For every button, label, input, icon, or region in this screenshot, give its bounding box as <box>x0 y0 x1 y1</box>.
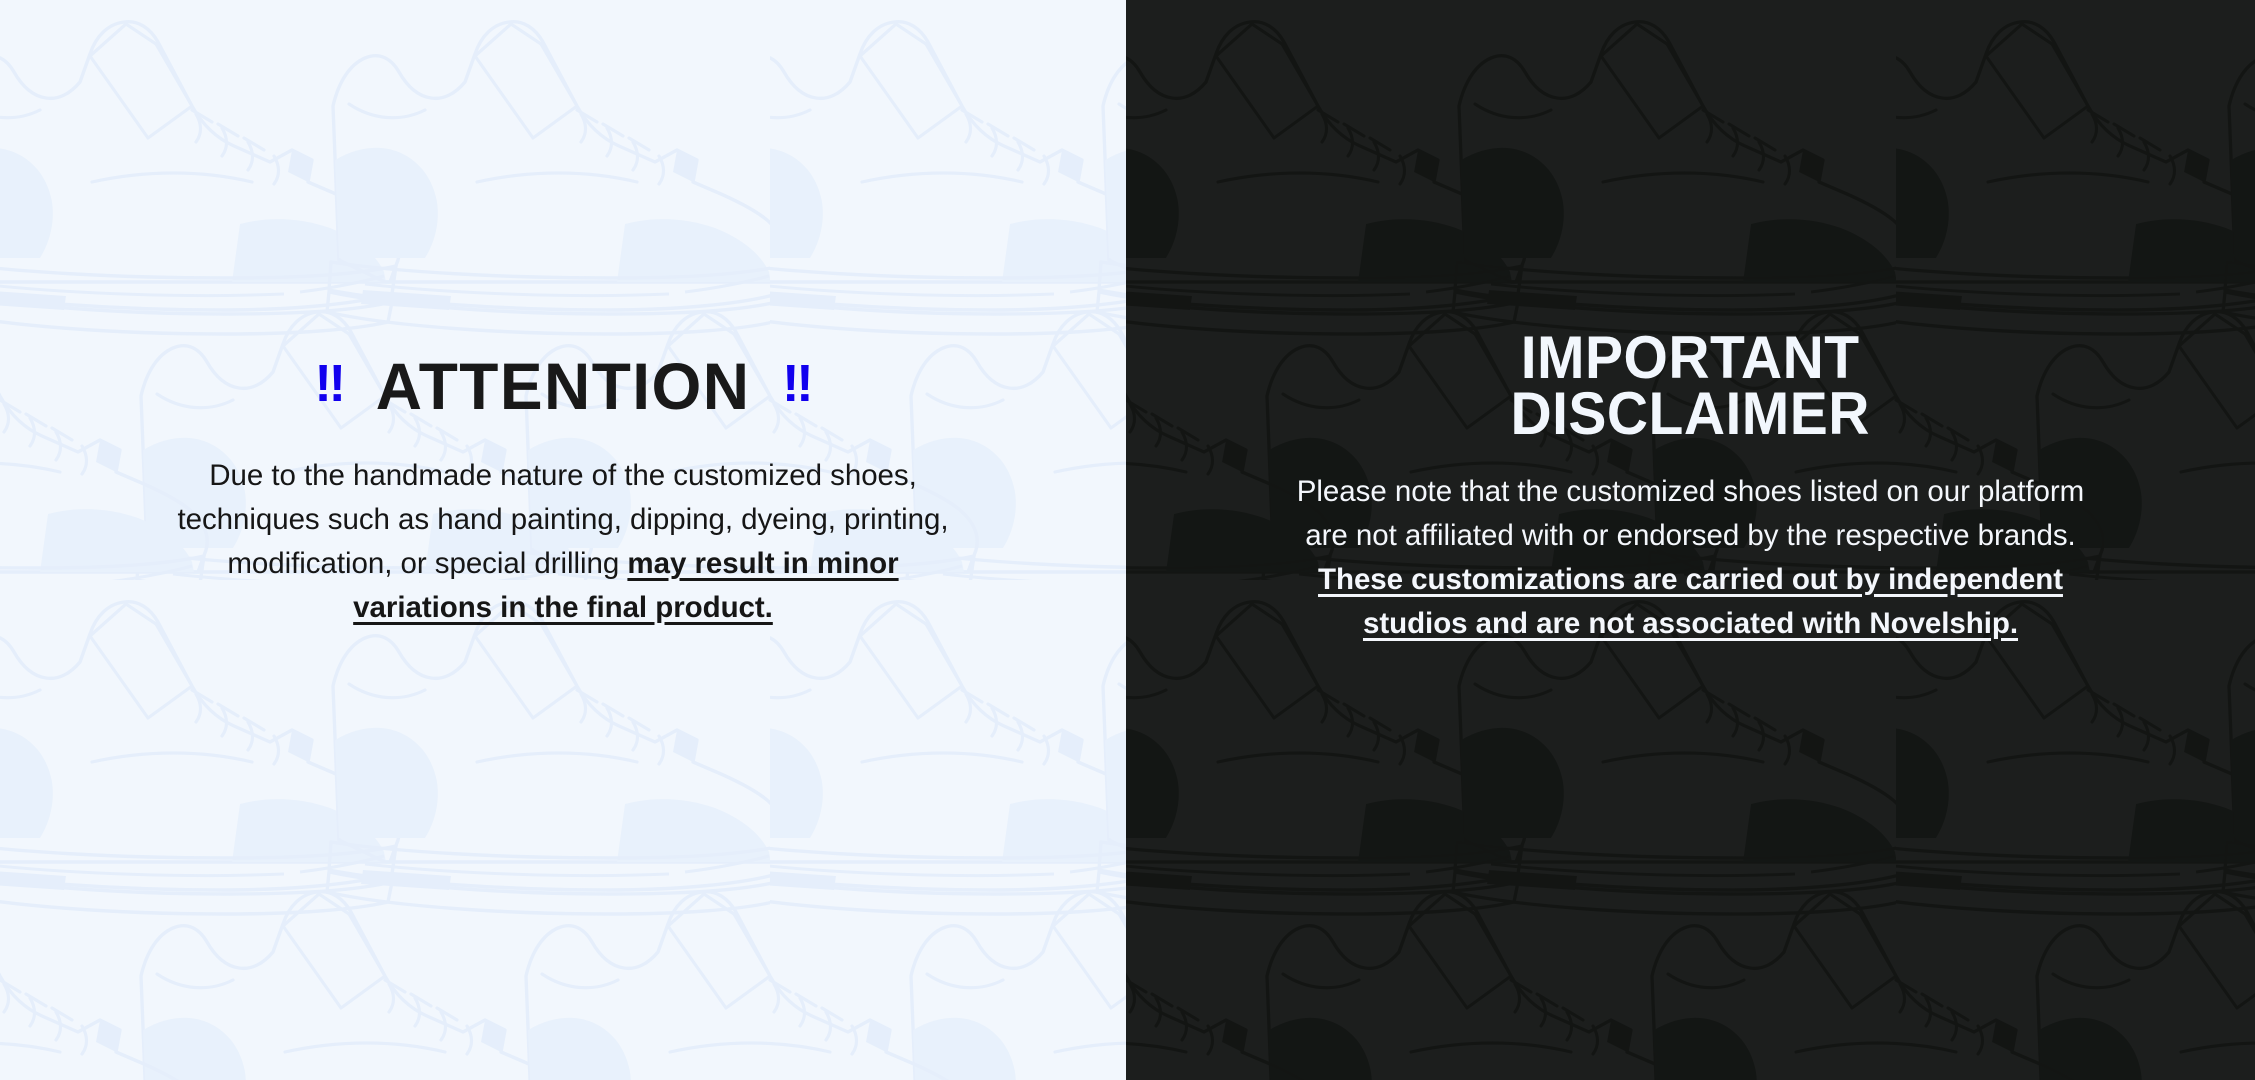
attention-body: Due to the handmade nature of the custom… <box>156 454 971 630</box>
disclaimer-heading-line2: DISCLAIMER <box>1511 380 1870 447</box>
attention-content: ‼ ATTENTION ‼ Due to the handmade nature… <box>0 0 1126 630</box>
disclaimer-body-emphasis: These customizations are carried out by … <box>1318 563 2063 640</box>
disclaimer-content: IMPORTANT DISCLAIMER Please note that th… <box>1126 0 2255 646</box>
double-exclamation-left-icon: ‼ <box>314 358 343 410</box>
disclaimer-body: Please note that the customized shoes li… <box>1276 470 2106 646</box>
disclaimer-heading: IMPORTANT DISCLAIMER <box>1511 330 1870 442</box>
attention-heading: ‼ ATTENTION ‼ <box>314 348 811 424</box>
attention-heading-text: ATTENTION <box>376 348 751 424</box>
attention-disclaimer-banner: ‼ ATTENTION ‼ Due to the handmade nature… <box>0 0 2255 1080</box>
disclaimer-body-intro: Please note that the customized shoes li… <box>1297 475 2084 552</box>
disclaimer-panel: IMPORTANT DISCLAIMER Please note that th… <box>1126 0 2255 1080</box>
double-exclamation-right-icon: ‼ <box>782 358 811 410</box>
attention-panel: ‼ ATTENTION ‼ Due to the handmade nature… <box>0 0 1126 1080</box>
